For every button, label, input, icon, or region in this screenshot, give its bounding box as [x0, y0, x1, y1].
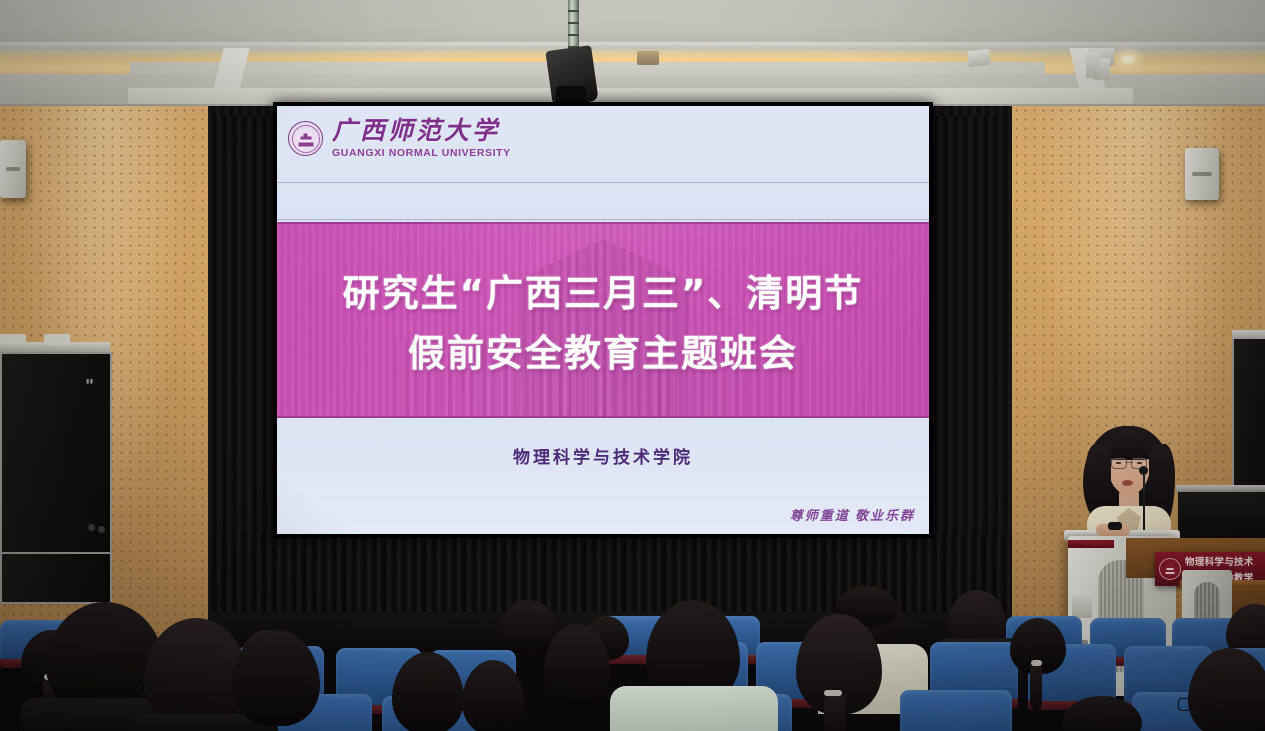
slide-title-line-2: 假前安全教育主题班会: [408, 323, 798, 377]
case-label: ▮▮: [86, 378, 93, 385]
wall-speaker-left: [0, 140, 26, 198]
university-crest-icon: [288, 121, 323, 156]
podium-banner-line-1: 物理科学与技术: [1185, 554, 1254, 568]
speaker-slot: [1192, 172, 1211, 176]
slide-title-block: 研究生“广西三月三”、清明节 假前安全教育主题班会: [277, 222, 929, 418]
downlight-icon: [1120, 54, 1136, 64]
speaker-slot: [6, 167, 21, 171]
glasses-icon: [139, 682, 165, 693]
audience-torso: [610, 686, 778, 731]
header-divider: [277, 182, 929, 183]
university-crest-icon: [1159, 558, 1181, 580]
presenter-mouth: [1122, 480, 1133, 486]
glasses-icon: [1178, 698, 1210, 709]
hair-tie: [1031, 660, 1042, 666]
title-banner: 研究生“广西三月三”、清明节 假前安全教育主题班会: [277, 222, 929, 418]
audience-ponytail: [824, 696, 846, 731]
brand-text: 广西师范大学 GUANGXI NORMAL UNIVERSITY: [332, 119, 511, 159]
header-divider-2: [277, 219, 929, 220]
ceiling-upper-surface: [0, 0, 1265, 43]
audience-area: [0, 586, 1265, 731]
hair-tie: [824, 690, 842, 696]
slide-subtitle: 物理科学与技术学院: [277, 443, 929, 468]
podium-red-accent: [1068, 540, 1114, 548]
university-motto: 尊师重道 敬业乐群: [790, 505, 915, 524]
auditorium-scene: ▮▮ 广西师范大学 GUANGXI NORMAL UNIVERSITY: [0, 0, 1265, 731]
presentation-slide[interactable]: 广西师范大学 GUANGXI NORMAL UNIVERSITY 研究生“广西三…: [277, 106, 929, 534]
auditorium-seat[interactable]: [900, 690, 1012, 731]
rear-console-top: [1176, 485, 1265, 492]
ceiling-spotlight: [1086, 52, 1100, 78]
audience-ponytail: [1030, 664, 1042, 710]
ceiling-vent: [637, 51, 659, 65]
flight-case-right-top: [1232, 330, 1265, 339]
presentation-clicker: [1108, 522, 1122, 530]
slide-title-line-1: 研究生“广西三月三”、清明节: [343, 263, 864, 317]
university-name-en: GUANGXI NORMAL UNIVERSITY: [332, 148, 511, 159]
rear-console: [1178, 490, 1265, 538]
flight-case-upper: [0, 352, 112, 556]
equipment-box: [0, 334, 26, 344]
wall-speaker-right: [1185, 148, 1219, 200]
ceiling-spotlight: [967, 49, 991, 68]
equipment-box: [44, 334, 70, 345]
microphone-icon: [1139, 466, 1148, 475]
slide-header: 广西师范大学 GUANGXI NORMAL UNIVERSITY: [277, 106, 929, 214]
audience-head-front: [232, 630, 320, 726]
slide-footer-area: 物理科学与技术学院 尊师重道 敬业乐群: [277, 418, 929, 534]
university-brand: 广西师范大学 GUANGXI NORMAL UNIVERSITY: [288, 119, 511, 159]
university-name-cn: 广西师范大学: [332, 119, 511, 144]
